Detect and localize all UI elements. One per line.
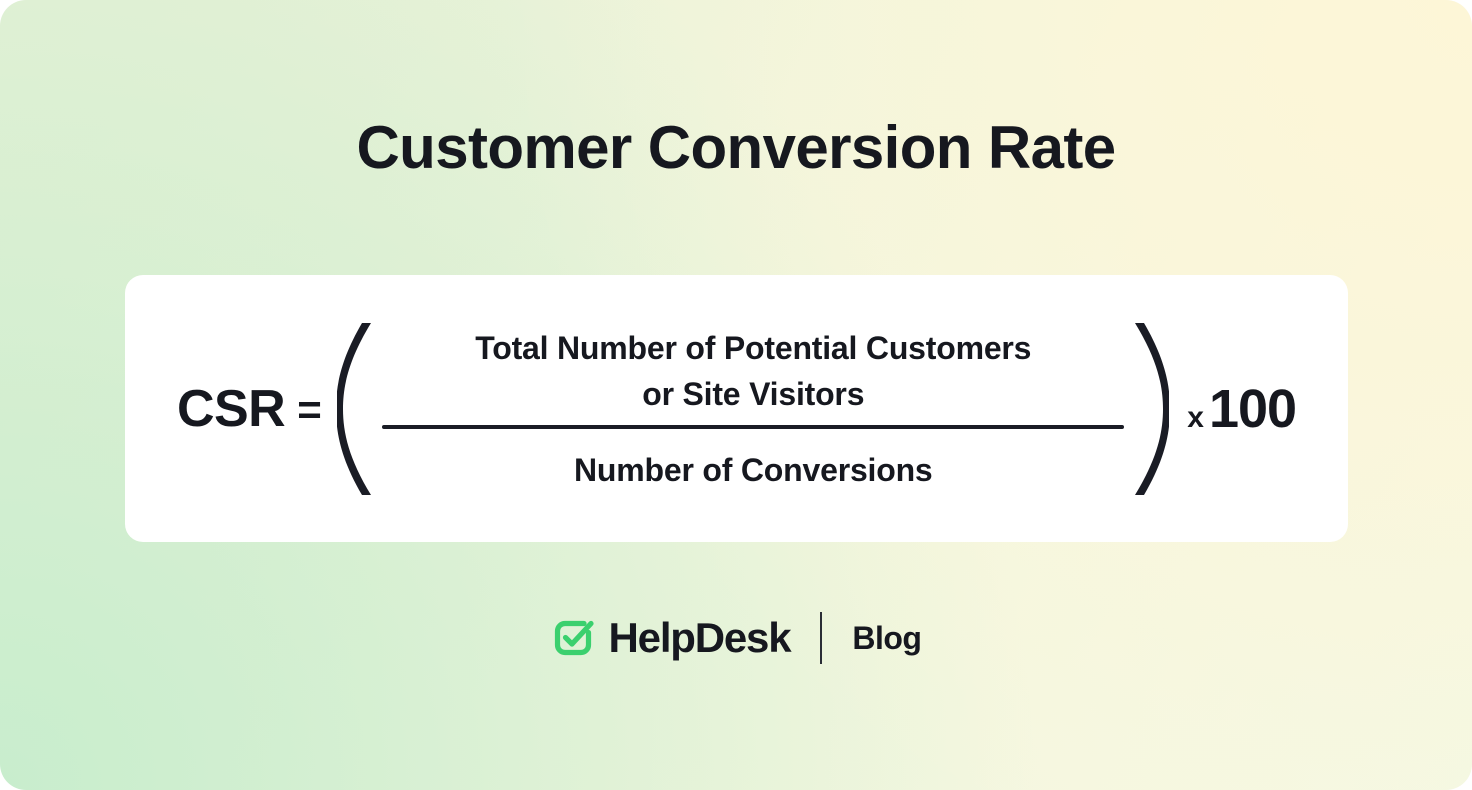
fraction-denominator: Number of Conversions [574,429,933,493]
formula-card: CSR = Total Number of Potential Customer… [125,275,1348,542]
fraction: Total Number of Potential Customers or S… [379,325,1127,493]
open-parenthesis-icon [337,321,377,497]
formula-left-side: CSR = [177,379,321,439]
brand-lockup: HelpDesk Blog [0,612,1472,664]
numerator-line-2: or Site Visitors [475,371,1031,417]
infographic-canvas: Customer Conversion Rate CSR = Total Num… [0,0,1472,790]
brand-section-label: Blog [852,615,921,661]
formula-expression: CSR = Total Number of Potential Customer… [125,275,1348,542]
multiplier-value: 100 [1209,378,1296,440]
metric-abbreviation: CSR [177,379,285,439]
checkbox-check-icon [551,615,597,661]
page-title: Customer Conversion Rate [0,112,1472,184]
fraction-numerator: Total Number of Potential Customers or S… [475,325,1031,425]
formula-multiplier: x 100 [1187,378,1296,440]
multiplication-sign: x [1187,401,1204,435]
brand-divider [820,612,822,664]
brand-name: HelpDesk [609,615,791,661]
equals-sign: = [297,386,321,434]
numerator-line-1: Total Number of Potential Customers [475,325,1031,371]
close-parenthesis-icon [1129,321,1169,497]
